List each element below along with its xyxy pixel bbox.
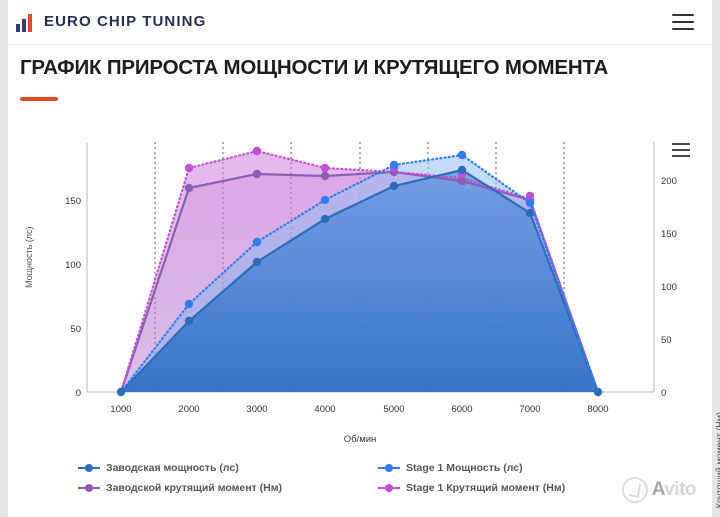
svg-text:50: 50 (70, 324, 81, 335)
legend-item-stage1-power[interactable]: Stage 1 Мощность (лс) (378, 462, 668, 474)
title-underline (20, 97, 58, 101)
legend-label: Stage 1 Мощность (лс) (406, 462, 523, 474)
svg-text:4000: 4000 (314, 404, 335, 415)
chart-xticks: 1000 2000 3000 4000 5000 6000 7000 8000 (110, 404, 608, 415)
page-gutter-left (0, 0, 8, 517)
chart-yticks-left: 0 50 100 150 (65, 196, 81, 399)
chart-legend: Заводская мощность (лс) Stage 1 Мощность… (78, 462, 678, 502)
svg-text:2000: 2000 (178, 404, 199, 415)
legend-marker-icon (78, 463, 100, 473)
svg-text:50: 50 (661, 335, 672, 346)
page-root: EURO CHIP TUNING ГРАФИК ПРИРОСТА МОЩНОСТ… (0, 0, 720, 517)
hamburger-menu-icon[interactable] (672, 14, 694, 30)
chart-svg: 0 50 100 150 0 50 100 150 200 1000 2000 (8, 112, 712, 452)
chart-plot-area: 0 50 100 150 0 50 100 150 200 1000 2000 (8, 112, 712, 452)
series-point-origin (117, 388, 125, 396)
svg-text:7000: 7000 (519, 404, 540, 415)
svg-text:5000: 5000 (383, 404, 404, 415)
page-title: ГРАФИК ПРИРОСТА МОЩНОСТИ И КРУТЯЩЕГО МОМ… (20, 56, 700, 80)
legend-label: Заводской крутящий момент (Нм) (106, 482, 282, 494)
brand-name: EURO CHIP TUNING (44, 13, 206, 30)
legend-marker-icon (378, 483, 400, 493)
x-axis-label: Об/мин (8, 434, 712, 445)
series-point-end (594, 388, 602, 396)
svg-text:150: 150 (661, 229, 677, 240)
chart-yticks-right: 0 50 100 150 200 (661, 176, 677, 399)
watermark: Avito (622, 477, 696, 503)
legend-item-factory-torque[interactable]: Заводской крутящий момент (Нм) (78, 482, 378, 494)
legend-marker-icon (378, 463, 400, 473)
watermark-text: Avito (652, 479, 696, 501)
legend-marker-icon (78, 483, 100, 493)
legend-item-factory-power[interactable]: Заводская мощность (лс) (78, 462, 378, 474)
svg-text:3000: 3000 (246, 404, 267, 415)
chart-card: 0 50 100 150 0 50 100 150 200 1000 2000 (8, 112, 712, 517)
svg-text:100: 100 (661, 282, 677, 293)
svg-text:200: 200 (661, 176, 677, 187)
svg-text:0: 0 (661, 388, 666, 399)
svg-text:1000: 1000 (110, 404, 131, 415)
y-axis-label-left: Мощность (лс) (24, 226, 34, 288)
legend-label: Заводская мощность (лс) (106, 462, 239, 474)
svg-text:0: 0 (76, 388, 81, 399)
svg-text:8000: 8000 (587, 404, 608, 415)
avito-logo-icon (622, 477, 648, 503)
y-axis-label-right: Крутящий момент (Нм) (714, 412, 720, 508)
svg-text:100: 100 (65, 260, 81, 271)
legend-label: Stage 1 Крутящий момент (Нм) (406, 482, 565, 494)
site-header: EURO CHIP TUNING (8, 0, 712, 45)
svg-text:6000: 6000 (451, 404, 472, 415)
svg-text:150: 150 (65, 196, 81, 207)
logo-icon (16, 12, 32, 32)
